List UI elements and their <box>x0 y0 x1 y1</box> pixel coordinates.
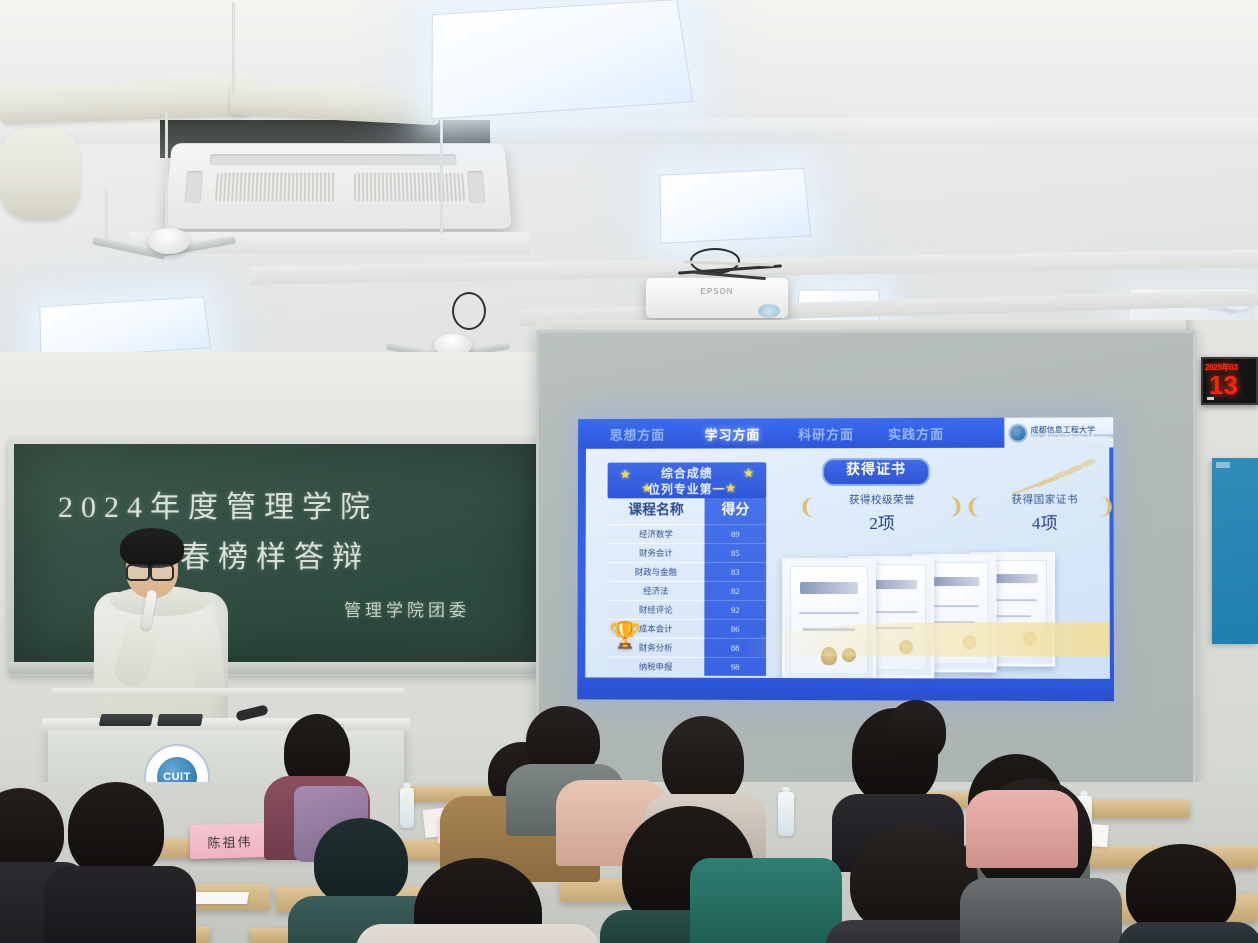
slide-tab-research[interactable]: 科研方面 <box>798 424 854 443</box>
classroom-scene: EPSON 2025年03 13 2024年度管理学院 青春榜样答辩 管理学院团… <box>0 0 1258 943</box>
table-row: 85 <box>704 543 766 562</box>
audience-member <box>356 858 596 943</box>
laptop-keyboard <box>157 714 203 726</box>
audience-member <box>1118 844 1258 943</box>
stat-national-certificates-label: 获得国家证书 <box>976 492 1113 507</box>
name-card: 陈祖伟 <box>190 823 270 859</box>
support-rod <box>232 2 235 94</box>
university-logo: 成都信息工程大学 Chengdu University of Informati… <box>1004 417 1113 447</box>
score-banner-line1: 综合成绩 <box>608 464 767 481</box>
water-bottle <box>778 792 794 836</box>
table-row: 92 <box>704 600 766 619</box>
table-row: 98 <box>704 657 766 676</box>
table-row: 经济法 <box>607 581 704 600</box>
column-header-score: 得分 <box>705 498 767 524</box>
air-conditioner-unit <box>164 143 512 229</box>
stat-school-honors-label: 获得校级荣誉 <box>814 492 950 507</box>
podium-top-edge <box>52 688 404 696</box>
certificate-image-front <box>782 558 876 682</box>
laptop-screen <box>99 714 154 726</box>
ceiling-light-panel <box>659 168 811 244</box>
ceiling-light-panel <box>431 0 693 119</box>
presenter-hair <box>120 528 184 568</box>
table-row: 86 <box>704 619 766 638</box>
blackboard-title-line1: 2024年度管理学院 <box>58 482 378 526</box>
audience-member <box>966 756 1076 856</box>
led-clock-display: 2025年03 13 <box>1201 357 1258 405</box>
support-rod <box>165 112 168 232</box>
score-banner-line2: 位列专业第一 <box>608 480 767 497</box>
air-duct-vertical <box>0 128 80 220</box>
column-header-course: 课程名称 <box>607 498 704 524</box>
table-row: 82 <box>704 581 766 600</box>
support-rod <box>440 112 443 234</box>
hanging-cable <box>452 292 486 330</box>
slide-tab-practice[interactable]: 实践方面 <box>888 424 944 443</box>
presenter <box>86 524 236 736</box>
score-panel: ★ ★ ★ ★ 综合成绩 位列专业第一 课程名称 经济数学 财务会计 财政与金融… <box>607 462 766 676</box>
projector-cables <box>678 258 786 282</box>
table-row: 89 <box>705 524 767 543</box>
table-row: 财政与金融 <box>607 562 704 581</box>
audience-member <box>44 782 194 943</box>
wall-blue-board <box>1212 458 1258 644</box>
audience-member <box>690 858 840 943</box>
slide-tab-study[interactable]: 学习方面 <box>705 424 761 443</box>
university-logo-mark <box>1008 423 1027 442</box>
glasses-icon <box>150 564 174 581</box>
table-row: 经济数学 <box>607 524 704 543</box>
table-row: 财经评论 <box>607 600 704 619</box>
trophy-icon: 🏆 <box>609 620 641 651</box>
slide-tab-thought[interactable]: 思想方面 <box>610 425 665 444</box>
projector-brand-label: EPSON <box>646 287 788 296</box>
audience-member <box>886 700 946 770</box>
ceiling-fan <box>122 222 212 262</box>
presentation-slide: 思想方面 学习方面 科研方面 实践方面 成都信息工程大学 Chengdu Uni… <box>577 417 1114 701</box>
led-time-text: 13 <box>1209 372 1238 398</box>
table-row: 83 <box>704 562 766 581</box>
stat-school-honors-value: 2项 <box>814 509 950 534</box>
slide-bottom-band <box>577 677 1114 701</box>
ceiling <box>0 0 1258 360</box>
stat-national-certificates: 获得国家证书 4项 <box>976 492 1113 534</box>
stat-school-honors: 获得校级荣誉 2项 <box>814 492 950 534</box>
slide-navbar: 思想方面 学习方面 科研方面 实践方面 成都信息工程大学 Chengdu Uni… <box>578 417 1113 448</box>
blackboard-signature: 管理学院团委 <box>344 596 470 621</box>
laurel-right-icon: ❩ <box>946 494 965 520</box>
glasses-icon <box>126 564 150 581</box>
slide-body: ★ ★ ★ ★ 综合成绩 位列专业第一 课程名称 经济数学 财务会计 财政与金融… <box>585 447 1110 678</box>
ceiling-light-panel <box>39 296 211 359</box>
table-row: 纳税申报 <box>607 657 704 676</box>
score-banner: ★ ★ ★ ★ 综合成绩 位列专业第一 <box>608 462 767 498</box>
laurel-right-icon-2: ❩ <box>1097 494 1114 520</box>
stat-national-certificates-value: 4项 <box>976 509 1113 534</box>
projector: EPSON <box>646 278 788 318</box>
certificate-section-title: 获得证书 <box>822 458 930 486</box>
university-name-en: Chengdu University of Information Techno… <box>1031 435 1114 439</box>
table-row: 财务会计 <box>607 543 704 562</box>
support-rod <box>105 190 108 242</box>
